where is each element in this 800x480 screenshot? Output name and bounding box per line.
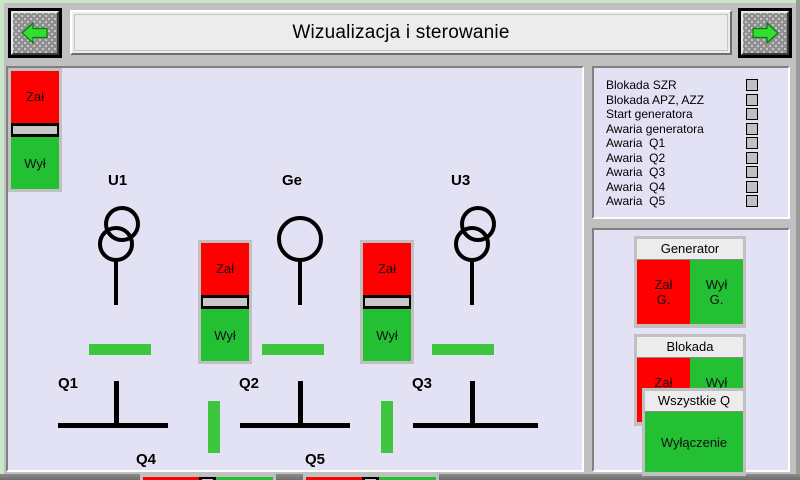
generator-control-group: Generator Zał G. Wył G. — [634, 236, 746, 328]
status-row: Awaria Q5 — [606, 194, 784, 209]
breaker-q2-close-label: Zał — [216, 261, 234, 276]
right-arrow-icon — [750, 20, 780, 46]
breaker-button-q1-face: Zał Wył — [11, 71, 59, 189]
breaker-button-q2-face: Zał Wył — [201, 243, 249, 361]
breaker-q2-open-segment[interactable]: Wył — [201, 309, 249, 361]
page-title-box: Wizualizacja i sterowanie — [70, 10, 732, 55]
source-label-ge: Ge — [282, 172, 302, 189]
generator-on-label-line2: G. — [657, 292, 671, 307]
state-indicator-q5 — [381, 401, 393, 453]
breaker-button-q2[interactable]: Zał Wył — [198, 240, 252, 364]
breaker-q1-open-segment[interactable]: Wył — [11, 137, 59, 189]
alarm-status-panel: Blokada SZR Blokada APZ, AZZ Start gener… — [592, 66, 790, 219]
busbar-stub-3 — [470, 381, 475, 426]
breaker-q3-open-segment[interactable]: Wył — [363, 309, 411, 361]
breaker-label-q2: Q2 — [239, 375, 259, 392]
state-indicator-q3 — [432, 344, 494, 355]
breaker-q3-indicator-strip — [363, 295, 411, 309]
breaker-button-q3-face: Zał Wył — [363, 243, 411, 361]
status-indicator-blokada-szr — [746, 79, 758, 91]
generator-on-label-line1: Zał — [654, 277, 672, 292]
status-indicator-awaria-q1 — [746, 137, 758, 149]
state-indicator-q2 — [262, 344, 324, 355]
breaker-label-q5: Q5 — [305, 451, 325, 468]
screen-edge-top — [0, 0, 800, 3]
busbar-segment-1 — [58, 423, 168, 428]
all-breakers-group-buttons: Wyłączenie — [645, 412, 743, 472]
breaker-label-q3: Q3 — [412, 375, 432, 392]
generator-on-button[interactable]: Zał G. — [637, 260, 690, 324]
generator-group-title: Generator — [637, 239, 743, 260]
status-indicator-awaria-q4 — [746, 181, 758, 193]
status-label: Awaria Q5 — [606, 194, 746, 208]
status-label: Awaria Q2 — [606, 151, 746, 165]
generator-off-label-line2: G. — [710, 292, 724, 307]
status-indicator-awaria-q2 — [746, 152, 758, 164]
left-arrow-icon — [20, 20, 50, 46]
source-label-u3: U3 — [451, 172, 470, 189]
status-row: Blokada SZR — [606, 78, 784, 93]
all-breakers-trip-button[interactable]: Wyłączenie — [645, 412, 743, 472]
breaker-button-q1[interactable]: Zał Wył — [8, 68, 62, 192]
breaker-q2-indicator-strip — [201, 295, 249, 309]
status-label: Start generatora — [606, 107, 746, 121]
status-label: Awaria Q3 — [606, 165, 746, 179]
all-breakers-control-group: Wszystkie Q Wyłączenie — [642, 388, 746, 476]
alarm-status-list: Blokada SZR Blokada APZ, AZZ Start gener… — [606, 78, 784, 209]
breaker-button-q4[interactable]: Zał Wył — [140, 474, 276, 480]
breaker-q2-close-segment[interactable]: Zał — [201, 243, 249, 295]
status-row: Awaria Q3 — [606, 165, 784, 180]
generator-off-button[interactable]: Wył G. — [690, 260, 743, 324]
busbar-segment-2 — [240, 423, 350, 428]
status-indicator-awaria-q3 — [746, 166, 758, 178]
generator-group-buttons: Zał G. Wył G. — [637, 260, 743, 324]
previous-button-face — [11, 11, 59, 55]
status-indicator-awaria-generatora — [746, 123, 758, 135]
page-title: Wizualizacja i sterowanie — [292, 22, 509, 44]
status-label: Blokada APZ, AZZ — [606, 93, 746, 107]
status-row: Awaria Q4 — [606, 180, 784, 195]
breaker-q3-close-label: Zał — [378, 261, 396, 276]
breaker-q3-open-label: Wył — [376, 328, 398, 343]
status-indicator-blokada-apz-azz — [746, 94, 758, 106]
status-indicator-awaria-q5 — [746, 195, 758, 207]
screen-edge-right — [796, 0, 800, 480]
blokada-group-title: Blokada — [637, 337, 743, 358]
busbar-stub-2 — [298, 381, 303, 426]
status-label: Awaria generatora — [606, 122, 746, 136]
breaker-q1-indicator-strip — [11, 123, 59, 137]
status-label: Awaria Q1 — [606, 136, 746, 150]
status-row: Blokada APZ, AZZ — [606, 93, 784, 108]
breaker-button-q3[interactable]: Zał Wył — [360, 240, 414, 364]
breaker-q2-open-label: Wył — [214, 328, 236, 343]
all-breakers-group-title: Wszystkie Q — [645, 391, 743, 412]
command-panel: Generator Zał G. Wył G. Blokada Zał Bl. — [592, 228, 790, 472]
status-row: Awaria generatora — [606, 122, 784, 137]
status-row: Start generatora — [606, 107, 784, 122]
hmi-screen: Wizualizacja i sterowanie U1 Zał — [0, 0, 800, 480]
breaker-q3-close-segment[interactable]: Zał — [363, 243, 411, 295]
breaker-q1-close-label: Zał — [26, 89, 44, 104]
breaker-q1-open-label: Wył — [24, 156, 46, 171]
status-row: Awaria Q2 — [606, 151, 784, 166]
generator-off-label-line1: Wył — [706, 277, 728, 292]
header-bar: Wizualizacja i sterowanie — [4, 4, 796, 62]
breaker-button-q5[interactable]: Zał Wył — [303, 474, 439, 480]
state-indicator-q1 — [89, 344, 151, 355]
schematic-panel: U1 Zał Wył Q1 Ge — [6, 66, 584, 472]
busbar-stub-1 — [114, 381, 119, 426]
status-indicator-start-generatora — [746, 108, 758, 120]
breaker-label-q4: Q4 — [136, 451, 156, 468]
breaker-q1-close-segment[interactable]: Zał — [11, 71, 59, 123]
status-label: Blokada SZR — [606, 78, 746, 92]
screen-edge-left — [0, 0, 4, 480]
busbar-segment-3 — [413, 423, 538, 428]
previous-page-button[interactable] — [8, 8, 62, 58]
source-label-u1: U1 — [108, 172, 127, 189]
breaker-label-q1: Q1 — [58, 375, 78, 392]
status-label: Awaria Q4 — [606, 180, 746, 194]
next-button-face — [741, 11, 789, 55]
state-indicator-q4 — [208, 401, 220, 453]
status-row: Awaria Q1 — [606, 136, 784, 151]
all-breakers-trip-label: Wyłączenie — [661, 435, 727, 450]
next-page-button[interactable] — [738, 8, 792, 58]
